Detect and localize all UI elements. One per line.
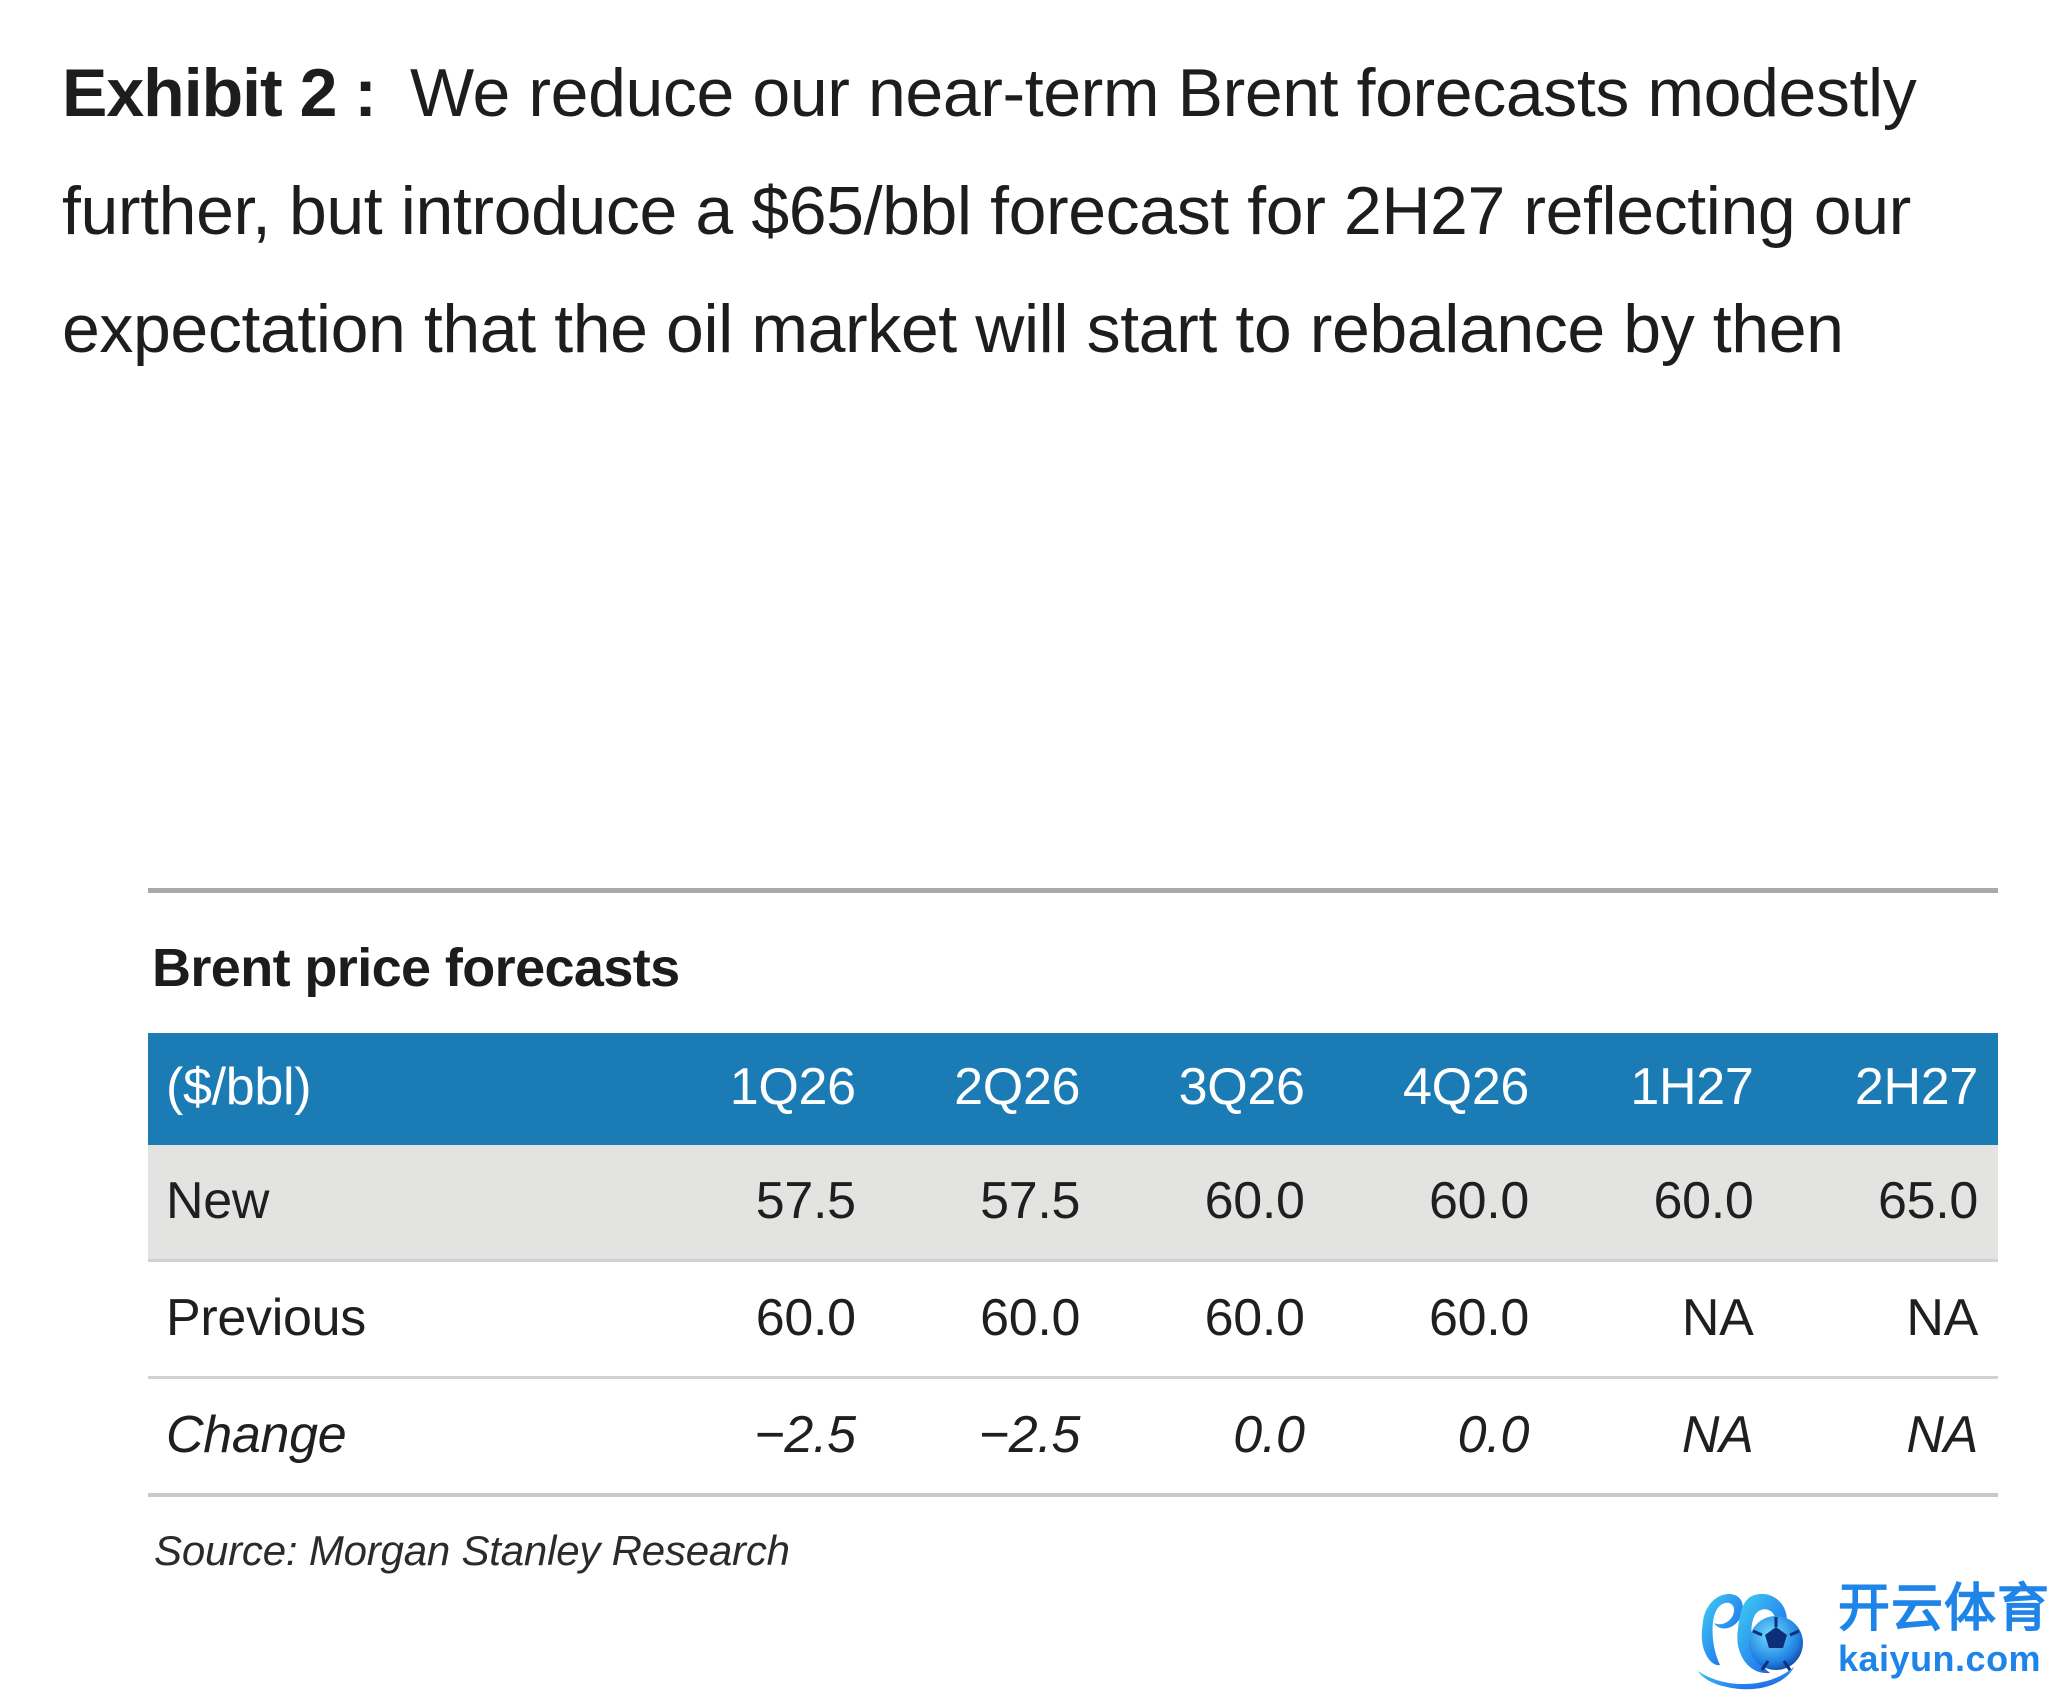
kaiyun-logo-icon (1690, 1579, 1840, 1691)
cell-new-2h27: 65.0 (1774, 1145, 1999, 1261)
exhibit-label: Exhibit 2 : (62, 55, 376, 131)
column-header-4q26: 4Q26 (1325, 1033, 1549, 1145)
exhibit-heading: Exhibit 2 :We reduce our near-term Brent… (62, 34, 1962, 388)
table-row: Previous 60.0 60.0 60.0 60.0 NA NA (148, 1261, 1998, 1378)
table-header: ($/bbl) 1Q26 2Q26 3Q26 4Q26 1H27 2H27 (148, 1033, 1998, 1145)
row-label-previous: Previous (148, 1261, 651, 1378)
watermark-url: kaiyun.com (1838, 1639, 2041, 1679)
cell-change-1h27: NA (1549, 1378, 1773, 1494)
column-header-1h27: 1H27 (1549, 1033, 1773, 1145)
table-header-row: ($/bbl) 1Q26 2Q26 3Q26 4Q26 1H27 2H27 (148, 1033, 1998, 1145)
cell-previous-2h27: NA (1774, 1261, 1999, 1378)
column-header-2q26: 2Q26 (876, 1033, 1100, 1145)
column-header-1q26: 1Q26 (651, 1033, 875, 1145)
source-note: Source: Morgan Stanley Research (148, 1497, 1998, 1575)
cell-change-3q26: 0.0 (1100, 1378, 1324, 1494)
table-row: Change −2.5 −2.5 0.0 0.0 NA NA (148, 1378, 1998, 1494)
cell-change-4q26: 0.0 (1325, 1378, 1549, 1494)
cell-new-4q26: 60.0 (1325, 1145, 1549, 1261)
cell-change-2h27: NA (1774, 1378, 1999, 1494)
table-title: Brent price forecasts (148, 893, 1998, 1033)
cell-previous-1h27: NA (1549, 1261, 1773, 1378)
brent-price-forecast-table: ($/bbl) 1Q26 2Q26 3Q26 4Q26 1H27 2H27 Ne… (148, 1033, 1998, 1493)
cell-previous-4q26: 60.0 (1325, 1261, 1549, 1378)
cell-previous-2q26: 60.0 (876, 1261, 1100, 1378)
cell-previous-3q26: 60.0 (1100, 1261, 1324, 1378)
forecast-table-block: Brent price forecasts ($/bbl) 1Q26 2Q26 … (148, 888, 1998, 1575)
cell-new-2q26: 57.5 (876, 1145, 1100, 1261)
column-header-2h27: 2H27 (1774, 1033, 1999, 1145)
cell-new-1h27: 60.0 (1549, 1145, 1773, 1261)
cell-new-3q26: 60.0 (1100, 1145, 1324, 1261)
column-header-3q26: 3Q26 (1100, 1033, 1324, 1145)
watermark-brand: 开云体育 (1838, 1581, 2048, 1637)
cell-previous-1q26: 60.0 (651, 1261, 875, 1378)
row-label-new: New (148, 1145, 651, 1261)
cell-new-1q26: 57.5 (651, 1145, 875, 1261)
watermark: 开云体育 kaiyun.com (1690, 1577, 2030, 1695)
table-body: New 57.5 57.5 60.0 60.0 60.0 65.0 Previo… (148, 1145, 1998, 1493)
cell-change-2q26: −2.5 (876, 1378, 1100, 1494)
table-row: New 57.5 57.5 60.0 60.0 60.0 65.0 (148, 1145, 1998, 1261)
row-label-change: Change (148, 1378, 651, 1494)
column-header-unit: ($/bbl) (148, 1033, 651, 1145)
cell-change-1q26: −2.5 (651, 1378, 875, 1494)
